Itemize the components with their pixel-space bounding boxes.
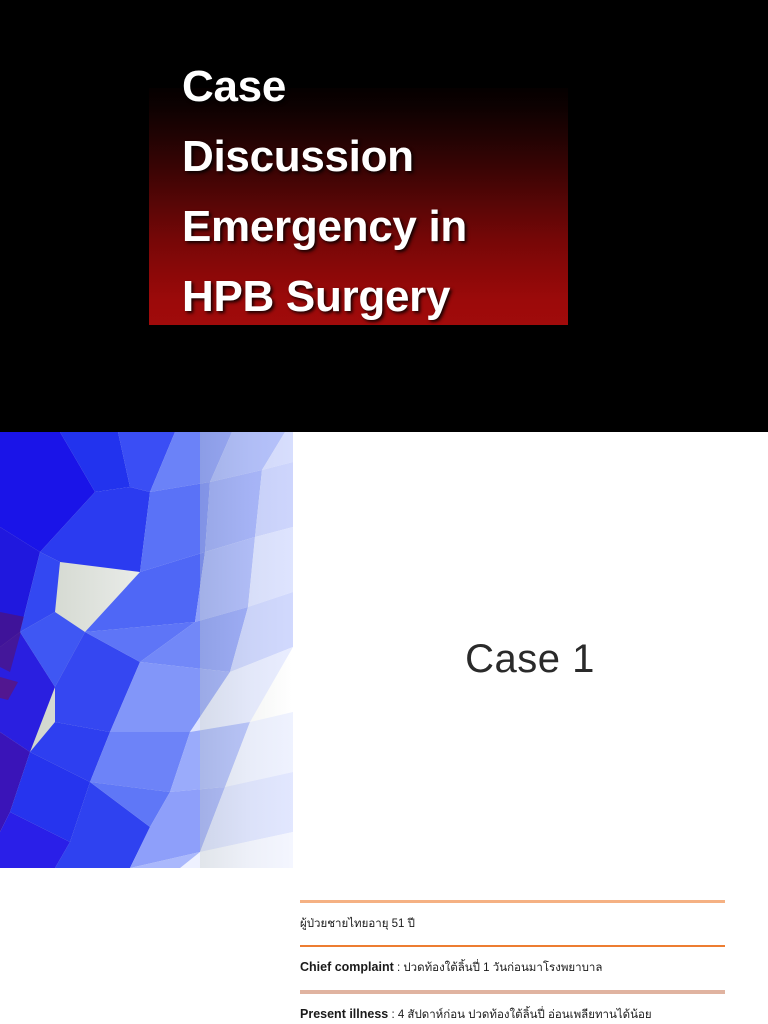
slide-3-patient-history: ผู้ป่วยชายไทยอายุ 51 ปี Chief complaint … (0, 868, 768, 1024)
slide-2-case-1: Case 1 (0, 432, 768, 868)
chief-complaint: Chief complaint : ปวดท้องใต้ลิ้นปี่ 1 วั… (300, 960, 725, 976)
low-poly-triangle-graphic (0, 432, 293, 868)
history-row-present-illness: Present illness : 4 สัปดาห์ก่อน ปวดท้องใ… (300, 990, 725, 1023)
present-illness-text: : 4 สัปดาห์ก่อน ปวดท้องใต้ลิ้นปี่ อ่อนเพ… (388, 1009, 651, 1021)
history-row-patient: ผู้ป่วยชายไทยอายุ 51 ปี (300, 900, 725, 932)
present-illness-label: Present illness (300, 1007, 388, 1021)
present-illness: Present illness : 4 สัปดาห์ก่อน ปวดท้องใ… (300, 1007, 725, 1023)
document-viewer: Case Discussion Emergency in HPB Surgery (0, 0, 768, 1024)
slide-1-title: Case Discussion Emergency in HPB Surgery (0, 0, 768, 432)
divider-rule-3 (300, 990, 725, 994)
history-row-chief-complaint: Chief complaint : ปวดท้องใต้ลิ้นปี่ 1 วั… (300, 945, 725, 976)
patient-demographics-text: ผู้ป่วยชายไทยอายุ 51 ปี (300, 918, 415, 930)
case-heading: Case 1 (330, 637, 730, 682)
presentation-title: Case Discussion Emergency in HPB Surgery (182, 52, 602, 332)
divider-rule-1 (300, 900, 725, 903)
chief-complaint-label: Chief complaint (300, 960, 394, 974)
divider-rule-2 (300, 945, 725, 947)
chief-complaint-text: : ปวดท้องใต้ลิ้นปี่ 1 วันก่อนมาโรงพยาบาล (394, 962, 603, 974)
patient-demographics: ผู้ป่วยชายไทยอายุ 51 ปี (300, 917, 725, 932)
